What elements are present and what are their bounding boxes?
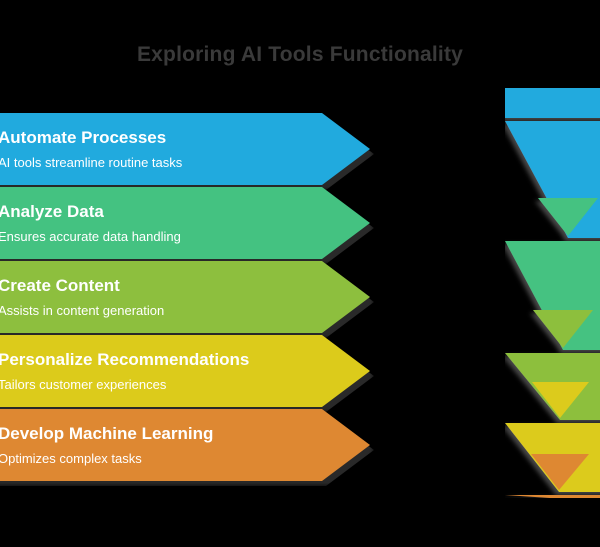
arrow-text-2: Analyze Data Ensures accurate data handl… [0,187,322,259]
list-item[interactable]: Personalize Recommendations Tailors cust… [0,335,370,407]
step-subtitle: Assists in content generation [0,302,322,319]
step-list: Automate Processes AI tools streamline r… [0,113,370,483]
infographic-canvas: Exploring AI Tools Functionality Automat… [0,0,600,547]
step-heading: Personalize Recommendations [0,349,322,370]
step-heading: Analyze Data [0,201,322,222]
funnel-band-1-taper[interactable] [505,121,600,238]
arrow-text-4: Personalize Recommendations Tailors cust… [0,335,322,407]
step-heading: Automate Processes [0,127,322,148]
arrow-text-3: Create Content Assists in content genera… [0,261,322,333]
step-heading: Create Content [0,275,322,296]
step-subtitle: AI tools streamline routine tasks [0,154,322,171]
list-item[interactable]: Analyze Data Ensures accurate data handl… [0,187,370,259]
arrow-text-1: Automate Processes AI tools streamline r… [0,113,322,185]
page-title: Exploring AI Tools Functionality [0,42,600,68]
list-item[interactable]: Automate Processes AI tools streamline r… [0,113,370,185]
step-subtitle: Tailors customer experiences [0,376,322,393]
step-subtitle: Optimizes complex tasks [0,450,322,467]
funnel-band-1[interactable] [505,88,600,118]
step-heading: Develop Machine Learning [0,423,322,444]
funnel-diagram [505,88,600,498]
arrow-text-5: Develop Machine Learning Optimizes compl… [0,409,322,481]
list-item[interactable]: Create Content Assists in content genera… [0,261,370,333]
funnel-band-5[interactable] [505,495,600,498]
list-item[interactable]: Develop Machine Learning Optimizes compl… [0,409,370,481]
step-subtitle: Ensures accurate data handling [0,228,322,245]
